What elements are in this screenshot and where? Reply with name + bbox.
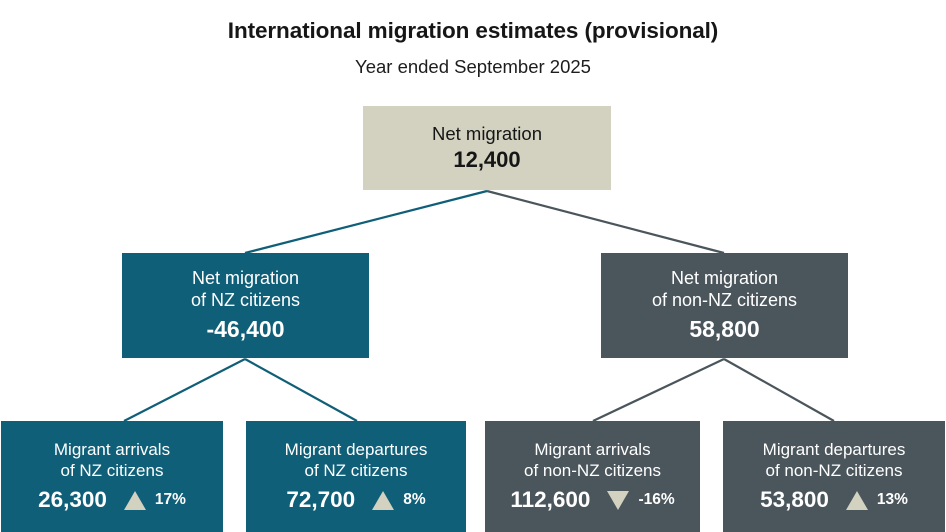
node-migrant-departures-non-nz-value: 53,800 — [760, 487, 829, 513]
node-migrant-arrivals-nz-label-line1: Migrant arrivals — [54, 440, 170, 461]
page-subtitle: Year ended September 2025 — [0, 56, 946, 78]
node-migrant-departures-non-nz: Migrant departures of non-NZ citizens 53… — [723, 421, 945, 532]
node-net-migration-nz: Net migration of NZ citizens -46,400 — [122, 253, 369, 358]
node-migrant-arrivals-non-nz-label-line1: Migrant arrivals — [534, 440, 650, 461]
node-net-migration-value: 12,400 — [453, 147, 520, 173]
node-migrant-arrivals-nz-label-line2: of NZ citizens — [61, 461, 164, 482]
node-migrant-departures-nz-label-line2: of NZ citizens — [305, 461, 408, 482]
node-net-migration-non-nz-label-line2: of non-NZ citizens — [652, 290, 797, 312]
node-migrant-arrivals-non-nz-value: 112,600 — [510, 487, 590, 513]
triangle-up-icon — [124, 491, 146, 510]
triangle-down-icon — [607, 491, 629, 510]
node-migrant-departures-non-nz-label-line2: of non-NZ citizens — [766, 461, 903, 482]
node-migrant-departures-nz-label-line1: Migrant departures — [285, 440, 428, 461]
node-migrant-arrivals-nz: Migrant arrivals of NZ citizens 26,300 1… — [1, 421, 223, 532]
node-migrant-arrivals-nz-change: 17% — [155, 491, 186, 509]
node-net-migration-label: Net migration — [432, 123, 542, 146]
connector-nz-to-arrivals — [124, 359, 245, 421]
node-migrant-arrivals-non-nz: Migrant arrivals of non-NZ citizens 112,… — [485, 421, 700, 532]
node-migrant-departures-nz: Migrant departures of NZ citizens 72,700… — [246, 421, 466, 532]
connector-nz-to-departures — [245, 359, 357, 421]
connector-root-to-nz — [245, 191, 487, 253]
node-migrant-arrivals-non-nz-change: -16% — [638, 491, 674, 509]
node-migrant-departures-nz-valuerow: 72,700 8% — [286, 487, 425, 513]
page-title: International migration estimates (provi… — [0, 18, 946, 44]
node-net-migration: Net migration 12,400 — [363, 106, 611, 190]
connector-nonnz-to-departures — [724, 359, 834, 421]
node-migrant-departures-non-nz-valuerow: 53,800 13% — [760, 487, 908, 513]
node-net-migration-non-nz-value: 58,800 — [689, 316, 759, 343]
node-migrant-arrivals-non-nz-label-line2: of non-NZ citizens — [524, 461, 661, 482]
connector-nonnz-to-arrivals — [593, 359, 724, 421]
migration-diagram: International migration estimates (provi… — [0, 0, 946, 532]
connector-root-to-nonnz — [487, 191, 724, 253]
node-migrant-departures-non-nz-label-line1: Migrant departures — [763, 440, 906, 461]
triangle-up-icon — [372, 491, 394, 510]
node-migrant-arrivals-non-nz-valuerow: 112,600 -16% — [510, 487, 674, 513]
node-migrant-departures-nz-value: 72,700 — [286, 487, 355, 513]
node-migrant-departures-nz-change: 8% — [403, 491, 425, 509]
node-net-migration-non-nz-label-line1: Net migration — [671, 268, 778, 290]
node-net-migration-non-nz: Net migration of non-NZ citizens 58,800 — [601, 253, 848, 358]
node-migrant-arrivals-nz-value: 26,300 — [38, 487, 107, 513]
node-migrant-arrivals-nz-valuerow: 26,300 17% — [38, 487, 186, 513]
node-migrant-departures-non-nz-change: 13% — [877, 491, 908, 509]
node-net-migration-nz-label-line1: Net migration — [192, 268, 299, 290]
triangle-up-icon — [846, 491, 868, 510]
node-net-migration-nz-label-line2: of NZ citizens — [191, 290, 300, 312]
node-net-migration-nz-value: -46,400 — [206, 316, 284, 343]
